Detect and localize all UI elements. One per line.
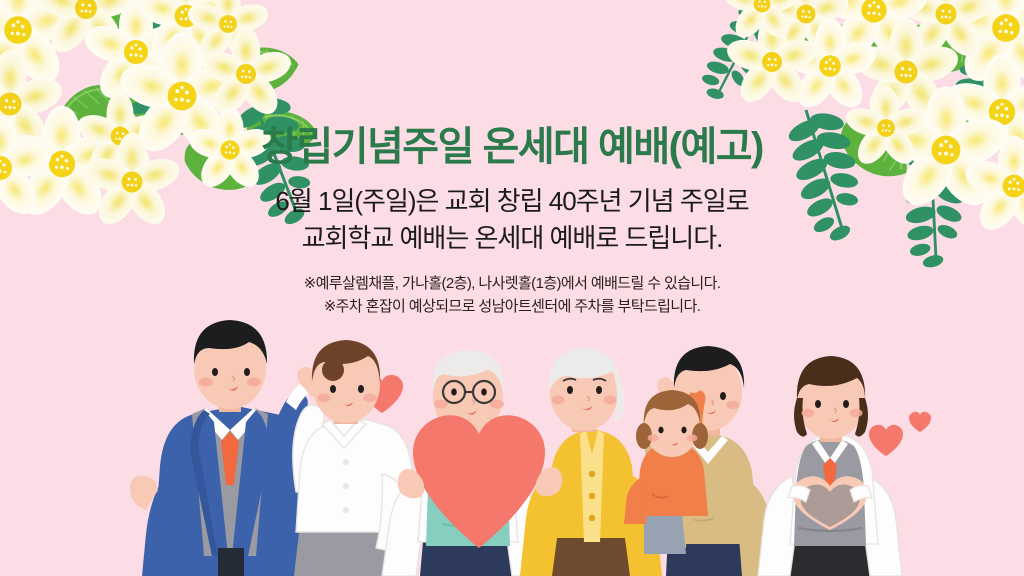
subtitle-line-2: 교회학교 예배는 온세대 예배로 드립니다. — [0, 220, 1024, 257]
note-line-2: ※주차 혼잡이 예상되므로 성남아트센터에 주차를 부탁드립니다. — [0, 296, 1024, 319]
page-title: 창립기념주일 온세대 예배(예고) — [0, 126, 1024, 169]
subtitle-block: 6월 1일(주일)은 교회 창립 40주년 기념 주일로 교회학교 예배는 온세… — [0, 183, 1024, 257]
floating-heart-right-small — [909, 412, 931, 432]
announcement-text-block: 창립기념주일 온세대 예배(예고) 6월 1일(주일)은 교회 창립 40주년 … — [0, 126, 1024, 319]
notes-block: ※예루살렘채플, 가나홀(2층), 나사렛홀(1층)에서 예배드릴 수 있습니다… — [0, 273, 1024, 319]
floating-heart-right-large — [869, 425, 903, 456]
subtitle-line-1: 6월 1일(주일)은 교회 창립 40주년 기념 주일로 — [0, 183, 1024, 220]
figure-schoolgirl-grey-vest — [758, 356, 902, 576]
poster-canvas: 창립기념주일 온세대 예배(예고) 6월 1일(주일)은 교회 창립 40주년 … — [0, 0, 1024, 576]
note-line-1: ※예루살렘채플, 가나홀(2층), 나사렛홀(1층)에서 예배드릴 수 있습니다… — [0, 273, 1024, 296]
